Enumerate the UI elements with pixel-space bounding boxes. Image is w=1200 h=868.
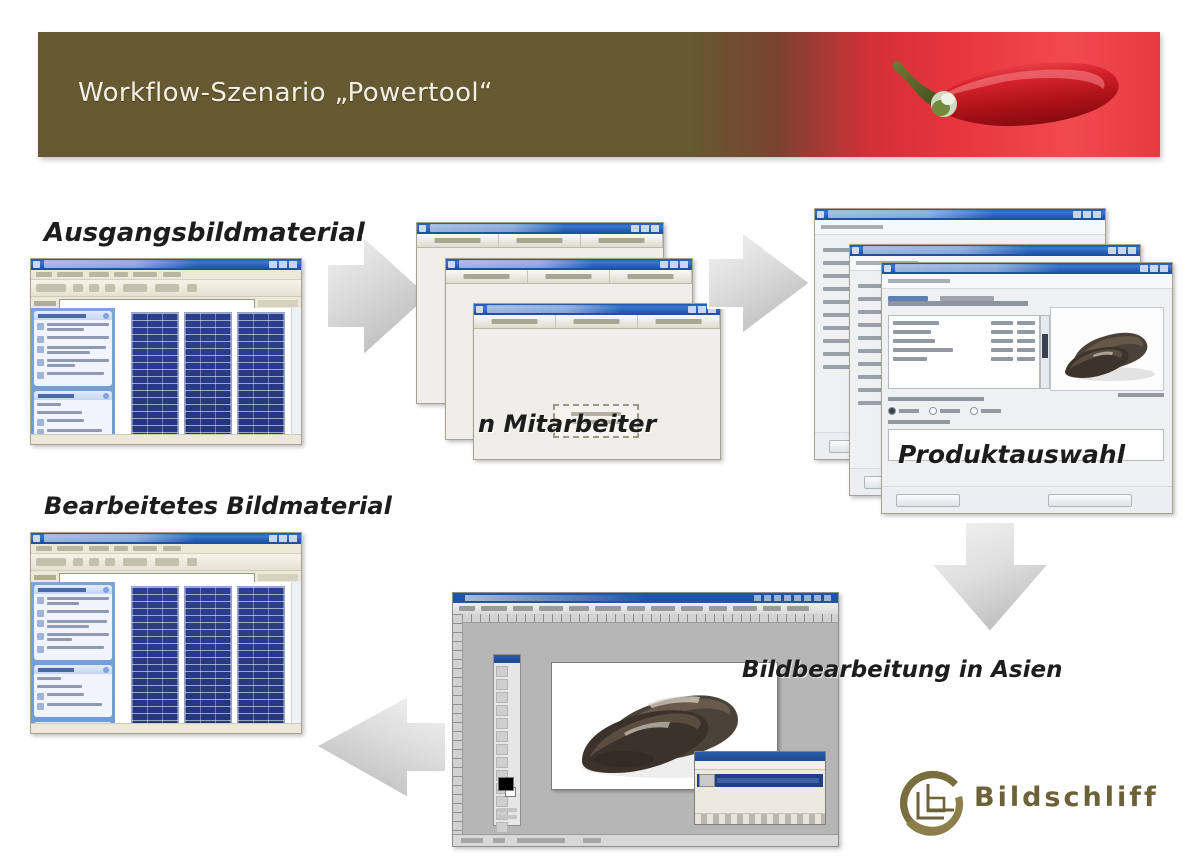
task-item[interactable]	[37, 693, 109, 700]
variant-listbox[interactable]	[888, 315, 1040, 389]
task-item[interactable]	[37, 646, 109, 653]
task-panel-header[interactable]	[34, 665, 112, 674]
option-group[interactable]	[888, 397, 1038, 415]
status-bar	[453, 834, 838, 846]
list-row[interactable]	[893, 339, 1035, 343]
task-panel-body	[34, 320, 112, 386]
lasso-tool-icon[interactable]	[496, 692, 508, 703]
window-titlebar	[474, 304, 720, 315]
move-tool-icon[interactable]	[496, 679, 508, 690]
radio-option[interactable]	[970, 407, 1001, 415]
task-item[interactable]	[37, 610, 109, 617]
list-row[interactable]	[893, 330, 1035, 334]
task-icon	[37, 419, 44, 426]
task-item[interactable]	[37, 685, 109, 690]
palette-footer[interactable]	[496, 805, 518, 822]
slide-canvas: Workflow-Szenario „Powertool“	[0, 0, 1200, 868]
title-banner: Workflow-Szenario „Powertool“	[38, 32, 1160, 157]
image-editor-window[interactable]	[452, 592, 839, 847]
window-titlebar	[417, 223, 663, 234]
window-titlebar	[815, 209, 1105, 220]
window-title-text	[44, 260, 261, 268]
radio-option[interactable]	[888, 407, 919, 415]
brand-name: Bildschliff	[974, 782, 1159, 813]
radio-icon[interactable]	[970, 407, 978, 415]
task-icon	[37, 610, 44, 617]
vertical-scrollbar[interactable]	[291, 308, 301, 434]
go-button[interactable]	[258, 300, 298, 307]
app-window-icon	[476, 306, 483, 313]
toolbar[interactable]	[31, 554, 301, 571]
marquee-tool-icon[interactable]	[496, 666, 508, 677]
task-item[interactable]	[37, 419, 109, 426]
window-controls[interactable]	[1108, 247, 1138, 254]
brand-logo: Bildschliff	[888, 766, 1138, 840]
tab-item[interactable]	[581, 234, 663, 247]
task-panel-body	[34, 674, 112, 717]
horizontal-ruler	[462, 614, 838, 623]
window-title-text	[828, 210, 1065, 218]
page-title: Workflow-Szenario „Powertool“	[78, 78, 493, 108]
caption-retouching: Bildbearbeitung in Asien	[742, 657, 1062, 683]
thumbnail-column[interactable]	[184, 312, 232, 442]
task-item[interactable]	[37, 411, 109, 416]
editor-canvas-area[interactable]	[453, 614, 838, 835]
window-titlebar	[31, 533, 301, 544]
task-item[interactable]	[37, 323, 109, 333]
list-row[interactable]	[893, 348, 1035, 352]
task-icon	[37, 372, 44, 379]
notes-label	[888, 420, 950, 424]
tab-strip[interactable]	[417, 234, 663, 248]
app-window-icon	[852, 247, 859, 254]
task-sidebar[interactable]	[31, 308, 115, 444]
dialog-footer	[882, 486, 1172, 513]
chevron-up-icon[interactable]	[103, 667, 109, 673]
chevron-up-icon[interactable]	[103, 313, 109, 319]
brush-tool-icon[interactable]	[496, 757, 508, 768]
toolbar[interactable]	[31, 280, 301, 297]
layer-name	[717, 778, 819, 783]
task-icon	[37, 703, 44, 710]
app-window-icon	[448, 261, 455, 268]
tab-item[interactable]	[499, 234, 581, 247]
window-controls[interactable]	[660, 261, 690, 268]
window-controls[interactable]	[269, 535, 299, 542]
window-controls[interactable]	[1073, 211, 1103, 218]
task-icon	[37, 633, 44, 640]
layers-panel[interactable]	[694, 751, 826, 825]
status-bar	[31, 723, 301, 733]
window-title-text	[863, 246, 1100, 254]
wand-tool-icon[interactable]	[496, 705, 508, 716]
task-item[interactable]	[37, 620, 109, 630]
layer-thumbnail	[699, 774, 715, 787]
go-button[interactable]	[258, 574, 298, 581]
task-icon	[37, 346, 44, 353]
tool-palette[interactable]	[493, 654, 521, 826]
task-icon	[37, 620, 44, 627]
tab-item[interactable]	[446, 270, 528, 283]
window-title-text	[487, 305, 680, 313]
task-item[interactable]	[37, 336, 109, 343]
tab-item[interactable]	[556, 315, 638, 328]
confirm-button[interactable]	[1048, 494, 1132, 507]
flow-arrow-left	[310, 688, 450, 808]
caption-employees: n Mitarbeiter	[478, 410, 656, 438]
window-controls[interactable]	[631, 225, 661, 232]
chevron-up-icon[interactable]	[103, 587, 109, 593]
task-panel-body	[34, 594, 112, 660]
healing-tool-icon[interactable]	[496, 744, 508, 755]
task-panel-file[interactable]	[34, 311, 112, 386]
window-titlebar	[850, 245, 1140, 256]
window-titlebar	[882, 263, 1172, 274]
caption-product-selection: Produktauswahl	[898, 440, 1125, 469]
address-label	[34, 575, 56, 580]
crop-tool-icon[interactable]	[496, 718, 508, 729]
list-row[interactable]	[893, 357, 1035, 361]
list-row[interactable]	[893, 321, 1035, 325]
product-photo	[1050, 307, 1164, 391]
tab-item[interactable]	[610, 270, 692, 283]
caption-source-material: Ausgangsbildmaterial	[44, 218, 365, 248]
task-icon	[37, 646, 44, 653]
tab-item[interactable]	[474, 315, 556, 328]
caption-edited-material: Bearbeitetes Bildmaterial	[44, 492, 392, 520]
folder-window-icon	[33, 535, 40, 542]
window-controls[interactable]	[1140, 265, 1170, 272]
window-controls[interactable]	[269, 261, 299, 268]
task-panel-header[interactable]	[34, 585, 112, 594]
app-window-icon	[817, 211, 824, 218]
tab-item[interactable]	[528, 270, 610, 283]
window-title-text	[44, 534, 261, 542]
window-title-text	[465, 595, 645, 601]
task-item[interactable]	[37, 633, 109, 643]
shoes-photo-image	[1051, 308, 1163, 390]
vertical-scrollbar[interactable]	[291, 582, 301, 723]
product-dialog-front[interactable]	[881, 262, 1173, 514]
task-icon	[37, 323, 44, 330]
window-title-text	[895, 264, 1132, 272]
palette-titlebar[interactable]	[494, 655, 520, 663]
slice-tool-icon[interactable]	[496, 731, 508, 742]
thumbnail-grid[interactable]	[115, 582, 301, 733]
task-panel-header[interactable]	[34, 311, 112, 320]
explorer-body	[31, 582, 301, 733]
dialog-subheader	[882, 274, 1172, 289]
window-title-text	[459, 260, 652, 268]
address-label	[34, 301, 56, 306]
tab-strip[interactable]	[474, 315, 720, 329]
blur-tool-icon[interactable]	[496, 822, 508, 833]
source-explorer-window[interactable]	[30, 258, 302, 445]
task-icon	[37, 597, 44, 604]
task-item[interactable]	[37, 703, 109, 710]
window-titlebar	[453, 593, 838, 603]
window-title-text	[430, 224, 623, 232]
layer-row-selected[interactable]	[697, 774, 823, 787]
panel-tab-row[interactable]	[695, 761, 825, 770]
task-icon	[37, 693, 44, 700]
flow-arrow-right-2	[706, 222, 816, 344]
flow-arrow-down	[925, 520, 1055, 648]
thumbnail-column[interactable]	[237, 586, 285, 731]
task-sidebar[interactable]	[31, 582, 115, 733]
task-item[interactable]	[37, 677, 109, 682]
thumbnail-column[interactable]	[237, 312, 285, 442]
thumbnail-column[interactable]	[131, 586, 179, 731]
task-item[interactable]	[37, 403, 109, 408]
folder-window-icon	[33, 261, 40, 268]
window-controls[interactable]	[754, 595, 834, 601]
task-item[interactable]	[37, 359, 109, 369]
menu-bar[interactable]	[31, 270, 301, 280]
task-item[interactable]	[37, 346, 109, 356]
app-window-icon	[419, 225, 426, 232]
task-icon	[37, 336, 44, 343]
task-item[interactable]	[37, 372, 109, 379]
tab-strip[interactable]	[446, 270, 692, 284]
task-panel-header[interactable]	[34, 391, 112, 400]
foreground-color-swatch[interactable]	[498, 777, 514, 791]
radio-icon[interactable]	[929, 407, 937, 415]
task-panel-file[interactable]	[34, 585, 112, 660]
thumbnail-column[interactable]	[184, 586, 232, 731]
dialog-subheader	[815, 220, 1105, 235]
window-titlebar	[446, 259, 692, 270]
vertical-ruler	[453, 614, 463, 835]
explorer-body	[31, 308, 301, 444]
thumbnail-column[interactable]	[131, 312, 179, 442]
radio-icon[interactable]	[888, 407, 896, 415]
chili-pepper-icon	[798, 44, 1138, 149]
chevron-up-icon[interactable]	[103, 393, 109, 399]
window-titlebar	[31, 259, 301, 270]
tab-item[interactable]	[417, 234, 499, 247]
section-heading	[888, 301, 1028, 306]
cancel-button[interactable]	[896, 494, 960, 507]
status-bar	[31, 434, 301, 444]
listbox-scrollbar[interactable]	[1040, 315, 1050, 389]
task-icon	[37, 359, 44, 366]
radio-option[interactable]	[929, 407, 960, 415]
panel-footer-buttons[interactable]	[695, 813, 825, 824]
thumbnail-grid[interactable]	[115, 308, 301, 444]
edited-explorer-window[interactable]	[30, 532, 302, 734]
photo-caption	[1118, 393, 1164, 397]
task-item[interactable]	[37, 597, 109, 607]
task-panel-places[interactable]	[34, 665, 112, 717]
app-window-icon	[884, 265, 891, 272]
menu-bar[interactable]	[31, 544, 301, 554]
panel-titlebar[interactable]	[695, 752, 825, 761]
crop-circle-icon	[888, 766, 976, 840]
option-group-label	[888, 397, 984, 401]
